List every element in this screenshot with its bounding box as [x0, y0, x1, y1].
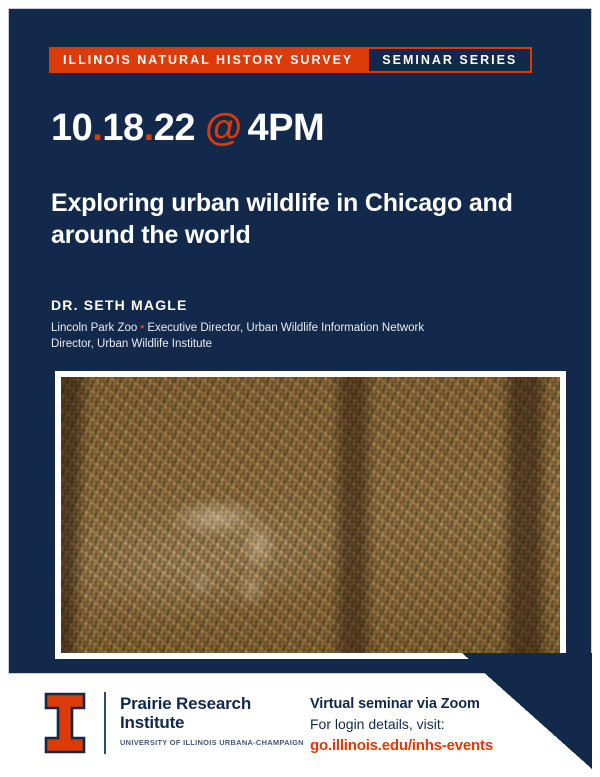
event-datetime: 10.18.22@4PM [51, 107, 324, 150]
affiliation-role: Executive Director, Urban Wildlife Infor… [147, 322, 424, 334]
seminar-poster: ILLINOIS NATURAL HISTORY SURVEY SEMINAR … [0, 0, 600, 777]
seminar-photo [61, 377, 560, 653]
date-dot-2: . [144, 107, 154, 149]
seminar-photo-frame [55, 371, 566, 659]
poster-hero-panel: ILLINOIS NATURAL HISTORY SURVEY SEMINAR … [8, 8, 592, 674]
event-time: 4PM [248, 107, 325, 149]
seminar-title: Exploring urban wildlife in Chicago and … [51, 187, 551, 251]
banner-series-label: SEMINAR SERIES [367, 47, 532, 73]
logo-divider [104, 692, 106, 754]
date-dot-1: . [92, 107, 102, 149]
logo-wordmark: Prairie Research Institute UNIVERSITY OF… [120, 692, 304, 747]
affiliation-line-2: Director, Urban Wildlife Institute [51, 338, 212, 350]
zoom-subtext: For login details, visit: [310, 716, 570, 732]
poster-footer: Prairie Research Institute UNIVERSITY OF… [0, 674, 600, 777]
affiliation-separator-bullet: • [137, 322, 147, 334]
illinois-block-i-icon [42, 692, 88, 754]
zoom-details: Virtual seminar via Zoom For login detai… [310, 696, 570, 754]
date-month: 10 [51, 107, 92, 149]
affiliation-organization: Lincoln Park Zoo [51, 322, 137, 334]
banner: ILLINOIS NATURAL HISTORY SURVEY SEMINAR … [49, 47, 532, 73]
photo-texture-overlay [61, 377, 560, 653]
prairie-research-institute-logo: Prairie Research Institute UNIVERSITY OF… [42, 692, 304, 754]
speaker-affiliation: Lincoln Park Zoo•Executive Director, Urb… [51, 320, 561, 353]
date-year: 22 [154, 107, 195, 149]
zoom-heading: Virtual seminar via Zoom [310, 696, 570, 712]
zoom-registration-url[interactable]: go.illinois.edu/inhs-events [310, 737, 570, 754]
at-symbol: @ [205, 107, 242, 149]
institute-name-line-2: Institute [120, 713, 184, 732]
institute-name-line-1: Prairie Research [120, 694, 251, 713]
date-day: 18 [102, 107, 143, 149]
speaker-name: DR. SETH MAGLE [51, 297, 188, 313]
banner-organization-label: ILLINOIS NATURAL HISTORY SURVEY [49, 47, 367, 73]
institute-tagline: UNIVERSITY OF ILLINOIS URBANA-CHAMPAIGN [120, 738, 304, 747]
